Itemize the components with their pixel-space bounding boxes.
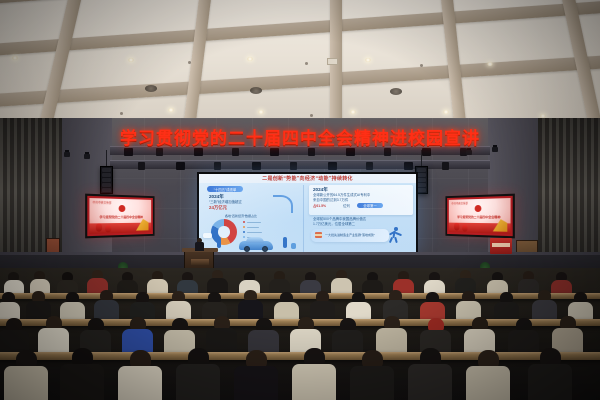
audience-body <box>206 328 237 354</box>
audience-body <box>376 328 407 354</box>
side-screen-top-label: 中共中央宣传部 <box>451 201 467 205</box>
ceiling-downlight <box>350 110 356 114</box>
audience-body <box>274 302 299 320</box>
ceiling <box>0 0 600 122</box>
audience-body <box>494 302 519 320</box>
slide-right-line4: 1.7万亿美元，位居全球第二 <box>313 222 355 227</box>
runner-figure-graphic <box>387 227 403 243</box>
ceiling-downlight <box>487 62 493 66</box>
lantern-icon <box>105 225 111 232</box>
audience-body <box>350 366 394 400</box>
main-presentation-screen: 二是创新“势能”向经济“动能”持续转化 “十四五”成绩单 2024年 “三新”经… <box>197 172 418 254</box>
audience-body <box>60 364 104 400</box>
lantern-icon <box>462 225 467 232</box>
slide-chat-text: 一大批先进制造业产业集群“落地成势” <box>325 233 375 237</box>
slide-right-stat-suffix: 位列 <box>343 204 350 209</box>
red-lectern-right <box>490 238 512 254</box>
speaker-body <box>195 242 204 251</box>
lantern-icon <box>96 223 102 231</box>
stage-light-truss-lower <box>110 160 490 169</box>
slide-right-line1: 全球新公开的64.5万件生成式AI专利中 <box>313 193 370 198</box>
slide-body: “十四五”成绩单 2024年 “三新”经济增加值超过 24万亿元 各地“四新经济… <box>199 183 416 254</box>
person-illustration-right <box>283 237 287 248</box>
audience-body <box>532 300 557 320</box>
wall-spotlight <box>466 150 472 155</box>
gift-icon <box>315 232 322 238</box>
robot-arm-graphic <box>273 195 293 213</box>
emblem-icon <box>119 205 126 212</box>
slide-left-line1: “三新”经济增加值超过 <box>209 200 242 205</box>
slide-right-stat: 占61.5% <box>313 204 326 209</box>
audience-body <box>238 300 263 320</box>
ceiling-projector <box>327 58 338 65</box>
ceiling-vent <box>250 87 262 94</box>
ceiling-vent <box>145 85 157 92</box>
ceiling-downlight <box>168 108 174 112</box>
audience-body <box>4 366 48 400</box>
audience-body <box>234 366 278 400</box>
side-screen-title: 学习贯彻党的二十届四中全会精神 <box>452 215 506 220</box>
person-illustration-left <box>217 237 221 248</box>
audience-body <box>508 330 539 354</box>
car-illustration <box>239 241 273 250</box>
slide-right-line2: 来自中国的达到3.7万件 <box>313 198 348 203</box>
wall-spotlight <box>84 154 90 159</box>
side-screen-top-label: 中共中央宣传部 <box>93 200 112 205</box>
side-screen-title: 学习贯彻党的二十届四中全会精神 <box>94 215 148 220</box>
audience-body <box>331 278 352 294</box>
audience-body <box>147 279 168 294</box>
audience-body <box>118 366 162 400</box>
audience-body <box>60 302 85 320</box>
audience-body <box>362 280 383 294</box>
speaker-person <box>195 238 204 251</box>
audience-body <box>292 364 336 400</box>
ceiling-downlight <box>128 58 134 62</box>
ceiling-downlight <box>443 110 449 114</box>
slide-left-pill: “十四五”成绩单 <box>207 186 243 192</box>
ceiling-downlight <box>365 58 371 62</box>
event-banner-title: 学习贯彻党的二十届四中全会精神进校园宣讲 <box>0 124 600 149</box>
line-array-speaker-left <box>100 166 113 194</box>
audience-body <box>94 300 119 320</box>
ceiling-vent <box>390 88 402 95</box>
audience-body <box>528 364 572 400</box>
audience-body <box>117 280 138 294</box>
ceiling-downlight <box>258 110 264 114</box>
audience-body <box>518 279 539 294</box>
wall-spotlight <box>64 152 70 157</box>
audience-body <box>332 330 363 354</box>
slide-right-pill: 全球第一 <box>357 203 383 208</box>
audience-body <box>0 302 20 320</box>
side-screen-left: 中共中央宣传部 学习贯彻党的二十届四中全会精神 进校园宣讲 <box>85 194 154 239</box>
laptop-illustration <box>203 233 212 238</box>
audience-body <box>466 366 510 400</box>
audience-body <box>38 328 69 354</box>
slide-donut-chart <box>211 219 237 245</box>
lecture-hall-photo: 学习贯彻党的二十届四中全会精神进校园宣讲 二是创新“势能”向经济“动能”持续转化… <box>0 0 600 400</box>
audience-body <box>551 280 572 294</box>
audience-body <box>310 301 335 320</box>
audience-area <box>0 268 600 400</box>
slide-right-line3: 全球前500个品牌中我国品牌价值达 <box>313 217 366 222</box>
lantern-icon <box>454 223 459 231</box>
slide-left-highlight: 24万亿元 <box>209 205 227 211</box>
side-screen-right: 中共中央宣传部 学习贯彻党的二十届四中全会精神 进校园宣讲 <box>445 194 514 239</box>
box-illustration <box>291 243 296 249</box>
slide-chart-caption: 各地“四新经济”数据占比 <box>225 214 257 218</box>
ceiling-downlight <box>247 57 253 61</box>
emblem-icon <box>475 205 482 212</box>
slide-header: 二是创新“势能”向经济“动能”持续转化 <box>199 174 416 183</box>
ceiling-downlight <box>12 56 18 60</box>
audience-body <box>408 364 452 400</box>
audience-body <box>176 364 220 400</box>
